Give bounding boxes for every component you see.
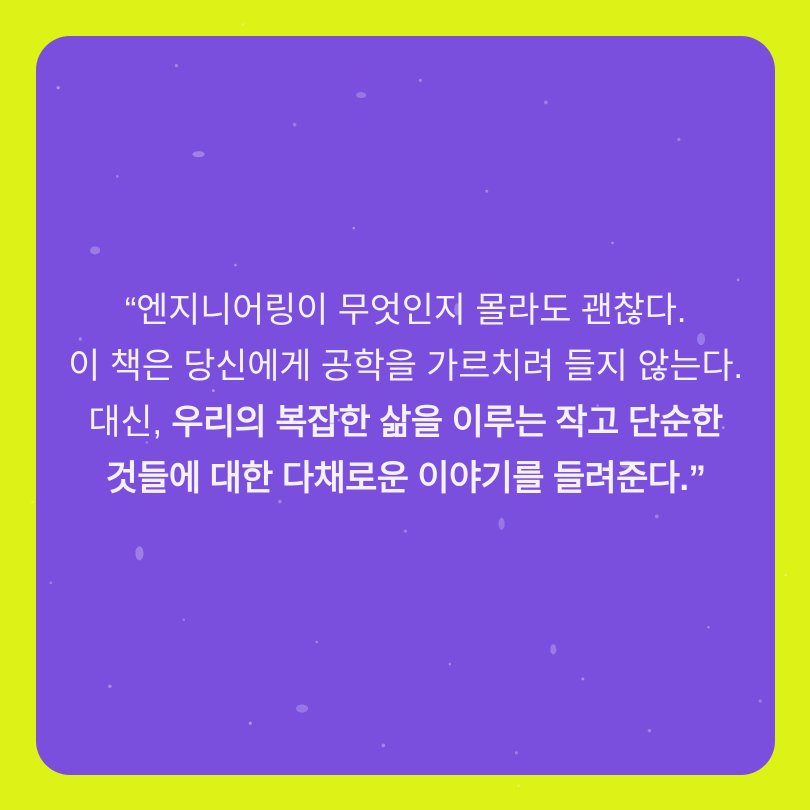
quote-line-1: “엔지니어링이 무엇인지 몰라도 괜찮다.	[68, 283, 743, 339]
quote-line-2: 이 책은 당신에게 공학을 가르치려 들지 않는다.	[68, 339, 743, 395]
purple-quote-card: “엔지니어링이 무엇인지 몰라도 괜찮다. 이 책은 당신에게 공학을 가르치려…	[36, 36, 775, 775]
quote-line-3-emphasis: 우리의 복잡한 삶을 이루는 작고 단순한	[171, 403, 722, 442]
quote-card-canvas: “엔지니어링이 무엇인지 몰라도 괜찮다. 이 책은 당신에게 공학을 가르치려…	[0, 0, 810, 810]
quote-line-3-lead: 대신,	[88, 403, 171, 442]
quote-text-block: “엔지니어링이 무엇인지 몰라도 괜찮다. 이 책은 당신에게 공학을 가르치려…	[68, 283, 743, 507]
quote-line-3: 대신, 우리의 복잡한 삶을 이루는 작고 단순한	[68, 395, 743, 451]
quote-line-4: 것들에 대한 다채로운 이야기를 들려준다.”	[68, 451, 743, 507]
